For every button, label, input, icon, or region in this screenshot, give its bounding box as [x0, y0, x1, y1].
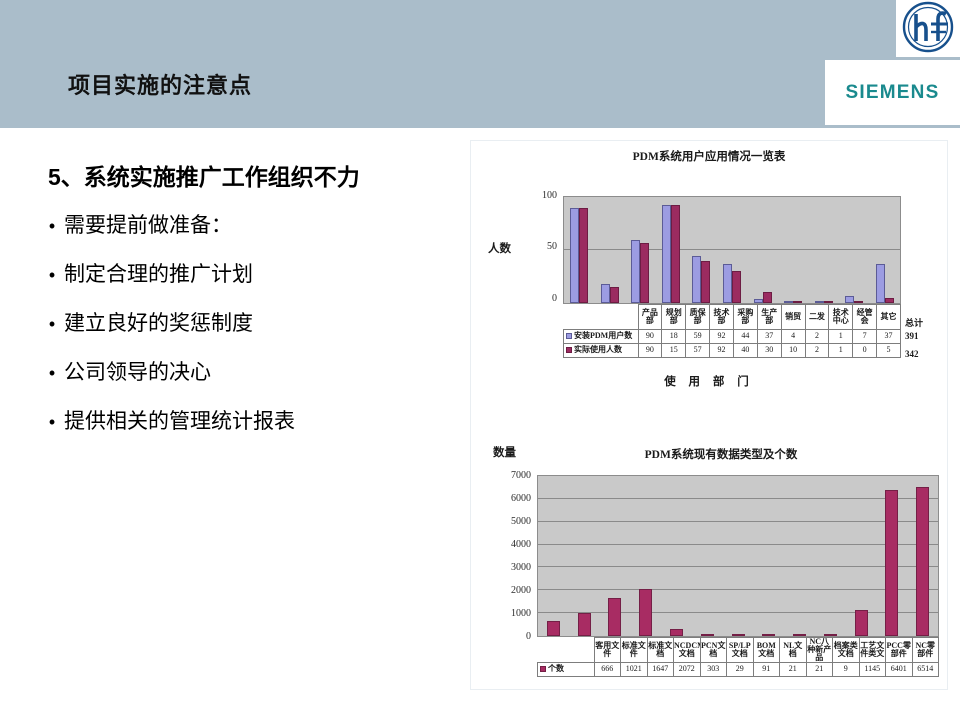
bar: [732, 634, 745, 636]
gridline: [564, 249, 900, 250]
chart2-ytick: 4000: [483, 539, 531, 550]
bar: [701, 634, 714, 636]
table-cell: 2: [805, 330, 829, 344]
table-cell: 2: [805, 344, 829, 358]
series-name: 安装PDM用户数: [574, 331, 632, 340]
bar: [824, 301, 833, 303]
table-header-cell: NCDCM文档: [674, 638, 701, 663]
table-cell: 7: [853, 330, 877, 344]
table-header-cell: 客用文件: [594, 638, 621, 663]
table-header-cell: 质保部: [686, 305, 710, 330]
chart1-y-axis-label: 人数: [488, 240, 511, 256]
bar: [754, 299, 763, 303]
table-cell: 666: [594, 663, 621, 677]
gridline: [538, 612, 938, 613]
bar: [570, 208, 579, 303]
siemens-wordmark: SIEMENS: [846, 82, 940, 104]
bar: [854, 301, 863, 303]
table-row-header: 产品部 规划部 质保部 技术部 采购部 生产部 销贸 二发 技术中心 经管会 其…: [564, 305, 901, 330]
bullet-list: • 需要提前做准备： • 制定合理的推广计划 • 建立良好的奖惩制度 • 公司领…: [40, 212, 460, 457]
bar: [631, 240, 640, 303]
chart2-ytick: 6000: [483, 493, 531, 504]
chart1-data-table: 产品部 规划部 质保部 技术部 采购部 生产部 销贸 二发 技术中心 经管会 其…: [563, 304, 901, 358]
table-cell: 6514: [912, 663, 939, 677]
bar: [732, 271, 741, 303]
chart2-ytick: 1000: [483, 608, 531, 619]
bar: [547, 621, 560, 636]
chart2-ytick: 7000: [483, 470, 531, 481]
chart2-ytick: 3000: [483, 562, 531, 573]
gridline: [538, 498, 938, 499]
table-header-cell: 采购部: [733, 305, 757, 330]
bullet-icon: •: [40, 359, 64, 387]
chart1-ytick: 0: [515, 293, 557, 304]
table-header-cell: 标准文件: [621, 638, 648, 663]
charts-image-panel: PDM系统用户应用情况一览表 人数 100 50 0 产品部 规划部 质保部 技…: [470, 140, 948, 690]
bar: [793, 301, 802, 303]
table-cell: 9: [833, 663, 860, 677]
table-cell: 1: [829, 330, 853, 344]
table-cell: 59: [686, 330, 710, 344]
table-cell: 37: [757, 330, 781, 344]
table-header-cell: PCC零部件: [886, 638, 913, 663]
table-cell: 1: [829, 344, 853, 358]
bar: [815, 301, 824, 303]
table-row-header: 客用文件 标准文件 标准文档 NCDCM文档 PCN文档 SP/LP文档 BOM…: [538, 638, 939, 663]
list-item: • 建立良好的奖惩制度: [40, 310, 460, 338]
table-header-cell: 经管会: [853, 305, 877, 330]
bar: [845, 296, 854, 303]
bar: [662, 205, 671, 303]
gridline: [538, 589, 938, 590]
bar: [763, 292, 772, 303]
table-header-cell: NC零部件: [912, 638, 939, 663]
bar: [639, 589, 652, 636]
section-heading: 5、系统实施推广工作组织不力: [48, 158, 360, 192]
chart1-plot-area: [563, 196, 901, 304]
list-item: • 提供相关的管理统计报表: [40, 408, 460, 436]
chart1-title: PDM系统用户应用情况一览表: [471, 148, 947, 164]
table-header-cell: 其它: [877, 305, 901, 330]
bar: [670, 629, 683, 636]
table-header-cell: 销贸: [781, 305, 805, 330]
table-cell: 90: [638, 330, 662, 344]
table-cell: 5: [877, 344, 901, 358]
table-cell: 18: [662, 330, 686, 344]
chart-user-application: PDM系统用户应用情况一览表 人数 100 50 0: [471, 141, 947, 406]
table-cell: 40: [733, 344, 757, 358]
table-header-cell: 产品部: [638, 305, 662, 330]
table-header-cell: 工艺文件类文: [859, 638, 886, 663]
chart1-ytick: 100: [515, 190, 557, 201]
table-row: 安装PDM用户数 90 18 59 92 44 37 4 2 1 7 37: [564, 330, 901, 344]
total-label: 总计: [905, 317, 923, 330]
bar: [824, 634, 837, 636]
chart2-data-table: 客用文件 标准文件 标准文档 NCDCM文档 PCN文档 SP/LP文档 BOM…: [537, 637, 939, 677]
table-cell: 44: [733, 330, 757, 344]
list-item-label: 建立良好的奖惩制度: [64, 310, 253, 338]
chart2-ytick: 5000: [483, 516, 531, 527]
bar: [671, 205, 680, 303]
chart1-ytick: 50: [515, 241, 557, 252]
table-cell: 15: [662, 344, 686, 358]
table-cell: 57: [686, 344, 710, 358]
total-value-series1: 391: [905, 330, 923, 343]
bullet-icon: •: [40, 310, 64, 338]
series-legend-label: 实际使用人数: [564, 344, 639, 358]
table-cell: 29: [727, 663, 754, 677]
bar: [885, 298, 894, 303]
bullet-icon: •: [40, 212, 64, 240]
table-header-cell: 规划部: [662, 305, 686, 330]
slide-header-bar: [0, 0, 960, 128]
table-header-cell: PCN文档: [700, 638, 727, 663]
bullet-icon: •: [40, 408, 64, 436]
hf-logo: [896, 0, 960, 57]
table-header-cell: 技术中心: [829, 305, 853, 330]
table-header-cell: 标准文档: [647, 638, 674, 663]
table-row: 实际使用人数 90 15 57 92 40 30 10 2 1 0 5: [564, 344, 901, 358]
bar: [876, 264, 885, 303]
bar: [793, 634, 806, 636]
bar: [762, 634, 775, 636]
chart2-ytick: 0: [483, 631, 531, 642]
table-cell: 0: [853, 344, 877, 358]
bar: [885, 490, 898, 636]
list-item-label: 制定合理的推广计划: [64, 261, 253, 289]
bar: [601, 284, 610, 303]
list-item: • 制定合理的推广计划: [40, 261, 460, 289]
total-value-series2: 342: [905, 348, 923, 361]
series-name: 实际使用人数: [574, 345, 622, 354]
list-item: • 公司领导的决心: [40, 359, 460, 387]
bar: [701, 261, 710, 303]
list-item: • 需要提前做准备：: [40, 212, 460, 240]
table-header-cell: 生产部: [757, 305, 781, 330]
bar: [723, 264, 732, 303]
table-header-cell: 二发: [805, 305, 829, 330]
bar: [784, 301, 793, 303]
table-header-cell: 档案类文档: [833, 638, 860, 663]
bullet-icon: •: [40, 261, 64, 289]
table-cell: 90: [638, 344, 662, 358]
table-cell: 21: [806, 663, 833, 677]
table-cell: 6401: [886, 663, 913, 677]
legend-swatch-icon: [540, 666, 546, 672]
list-item-label: 提供相关的管理统计报表: [64, 408, 295, 436]
bar: [610, 287, 619, 303]
page-title: 项目实施的注意点: [68, 68, 252, 100]
gridline: [538, 521, 938, 522]
table-cell: 92: [710, 330, 734, 344]
table-header-cell: NL文档: [780, 638, 807, 663]
bar: [692, 256, 701, 303]
table-header-cell: NC八种新产品: [806, 638, 833, 663]
bar: [578, 613, 591, 636]
table-cell: 1021: [621, 663, 648, 677]
table-cell: 30: [757, 344, 781, 358]
list-item-label: 需要提前做准备：: [64, 212, 232, 240]
table-cell: 2072: [674, 663, 701, 677]
bar: [579, 208, 588, 303]
table-header-cell: 技术部: [710, 305, 734, 330]
table-header-cell: SP/LP文档: [727, 638, 754, 663]
chart2-ytick: 2000: [483, 585, 531, 596]
table-header-cell: BOM文档: [753, 638, 780, 663]
list-item-label: 公司领导的决心: [64, 359, 211, 387]
gridline: [538, 566, 938, 567]
bar: [608, 598, 621, 636]
chart2-plot-area: [537, 475, 939, 637]
chart2-title: PDM系统现有数据类型及个数: [511, 446, 931, 462]
table-cell: 1647: [647, 663, 674, 677]
bar: [640, 243, 649, 303]
chart1-totals: 总计 391 342: [905, 317, 923, 361]
table-cell: 21: [780, 663, 807, 677]
chart2-y-axis-label: 数量: [493, 444, 516, 460]
gridline: [538, 544, 938, 545]
table-cell: 1145: [859, 663, 886, 677]
bar: [855, 610, 868, 636]
series-legend-label: 个数: [538, 663, 595, 677]
bar: [916, 487, 929, 636]
table-cell: 92: [710, 344, 734, 358]
table-row: 个数 666 1021 1647 2072 303 29 91 21 21 9 …: [538, 663, 939, 677]
table-cell: 4: [781, 330, 805, 344]
table-cell: 303: [700, 663, 727, 677]
table-cell: 91: [753, 663, 780, 677]
siemens-logo: SIEMENS: [825, 60, 960, 125]
table-cell: 10: [781, 344, 805, 358]
legend-swatch-icon: [566, 333, 572, 339]
chart1-x-axis-label: 使 用 部 门: [471, 373, 947, 389]
series-legend-label: 安装PDM用户数: [564, 330, 639, 344]
series-name: 个数: [548, 664, 564, 673]
legend-swatch-icon: [566, 347, 572, 353]
table-cell: 37: [877, 330, 901, 344]
